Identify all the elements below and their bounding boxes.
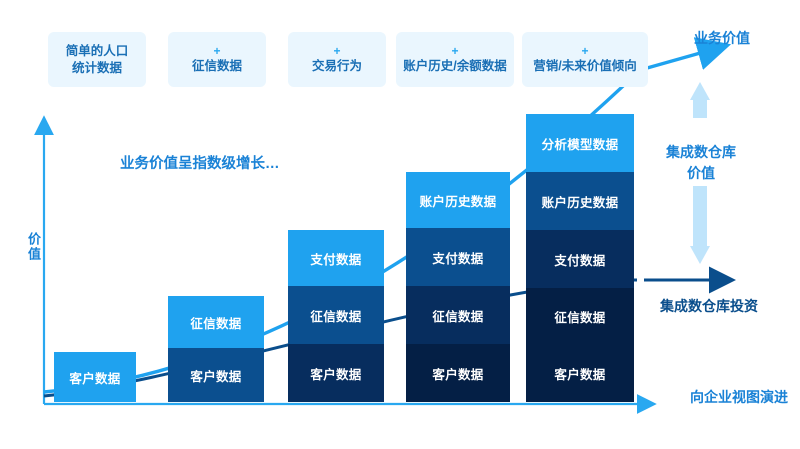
bar-5-seg-payment: 支付数据 [526,230,634,288]
plus-icon: + [312,45,362,58]
bar-3-seg-payment-label: 支付数据 [310,249,361,268]
plus-icon: + [403,45,506,58]
bar-5-seg-analytics: 分析模型数据 [526,114,634,172]
diagram-canvas: 简单的人口 统计数据 + 征信数据 + 交易行为 + 账户历史/余额数据 + 营… [0,0,800,449]
bar-1-seg-customer: 客户数据 [54,352,136,402]
bar-3-seg-payment: 支付数据 [288,230,384,286]
cat-transaction[interactable]: + 交易行为 [288,32,386,87]
cat-demographic-line2: 统计数据 [72,61,122,75]
y-axis-label: 价值 [24,232,43,262]
bar-4-seg-credit-label: 征信数据 [432,306,483,325]
cat-transaction-text: + 交易行为 [308,45,366,75]
bar-4-seg-customer-label: 客户数据 [432,364,483,383]
cat-account-history-line1: 账户历史/余额数据 [403,59,506,73]
bar-4-seg-credit: 征信数据 [406,286,510,344]
bar-2-seg-credit: 征信数据 [168,296,264,348]
evolution-label: 向企业视图演进 [690,387,788,407]
cat-marketing-text: + 营销/未来价值倾向 [529,45,640,75]
bar-4-seg-payment-label: 支付数据 [432,248,483,267]
cat-credit-text: + 征信数据 [188,45,246,75]
bar-2: 征信数据 客户数据 [168,296,264,402]
dw-value-label: 集成数仓库价值 [664,142,738,184]
bar-5-seg-account-history: 账户历史数据 [526,172,634,230]
bar-4-seg-account-history-label: 账户历史数据 [420,191,497,210]
cat-marketing[interactable]: + 营销/未来价值倾向 [522,32,648,87]
cat-account-history[interactable]: + 账户历史/余额数据 [396,32,514,87]
bar-4-seg-payment: 支付数据 [406,228,510,286]
plus-icon: + [533,45,636,58]
bar-3-seg-credit-label: 征信数据 [310,306,361,325]
cat-demographic[interactable]: 简单的人口 统计数据 [48,32,146,87]
bar-3-seg-credit: 征信数据 [288,286,384,344]
cat-credit-line1: 征信数据 [192,59,242,73]
bar-3-seg-customer-label: 客户数据 [310,364,361,383]
bar-1-seg-customer-label: 客户数据 [69,368,120,387]
cat-transaction-line1: 交易行为 [312,59,362,73]
bar-5-seg-credit-label: 征信数据 [554,307,605,326]
bar-2-seg-credit-label: 征信数据 [190,313,241,332]
bar-5-seg-payment-label: 支付数据 [554,250,605,269]
bar-4-seg-account-history: 账户历史数据 [406,172,510,228]
plus-icon: + [192,45,242,58]
bar-3-seg-customer: 客户数据 [288,344,384,402]
bar-4: 账户历史数据 支付数据 征信数据 客户数据 [406,172,510,402]
dw-investment-label: 集成数仓库投资 [660,296,758,316]
bar-2-seg-customer: 客户数据 [168,348,264,402]
bar-5: 分析模型数据 账户历史数据 支付数据 征信数据 客户数据 [526,114,634,402]
bar-1: 客户数据 [54,352,136,402]
bar-4-seg-customer: 客户数据 [406,344,510,402]
growth-note: 业务价值呈指数级增长… [120,152,280,173]
cat-marketing-line1: 营销/未来价值倾向 [533,59,636,73]
bar-5-seg-customer-label: 客户数据 [554,364,605,383]
bar-2-seg-customer-label: 客户数据 [190,366,241,385]
business-value-label: 业务价值 [694,28,750,48]
cat-account-history-text: + 账户历史/余额数据 [399,45,510,75]
bar-5-seg-account-history-label: 账户历史数据 [542,192,619,211]
cat-credit[interactable]: + 征信数据 [168,32,266,87]
bar-5-seg-credit: 征信数据 [526,288,634,345]
cat-demographic-text: 简单的人口 统计数据 [62,43,133,77]
bar-3: 支付数据 征信数据 客户数据 [288,230,384,402]
cat-demographic-line1: 简单的人口 [66,44,129,58]
bar-5-seg-analytics-label: 分析模型数据 [542,134,619,153]
bar-5-seg-customer: 客户数据 [526,345,634,402]
